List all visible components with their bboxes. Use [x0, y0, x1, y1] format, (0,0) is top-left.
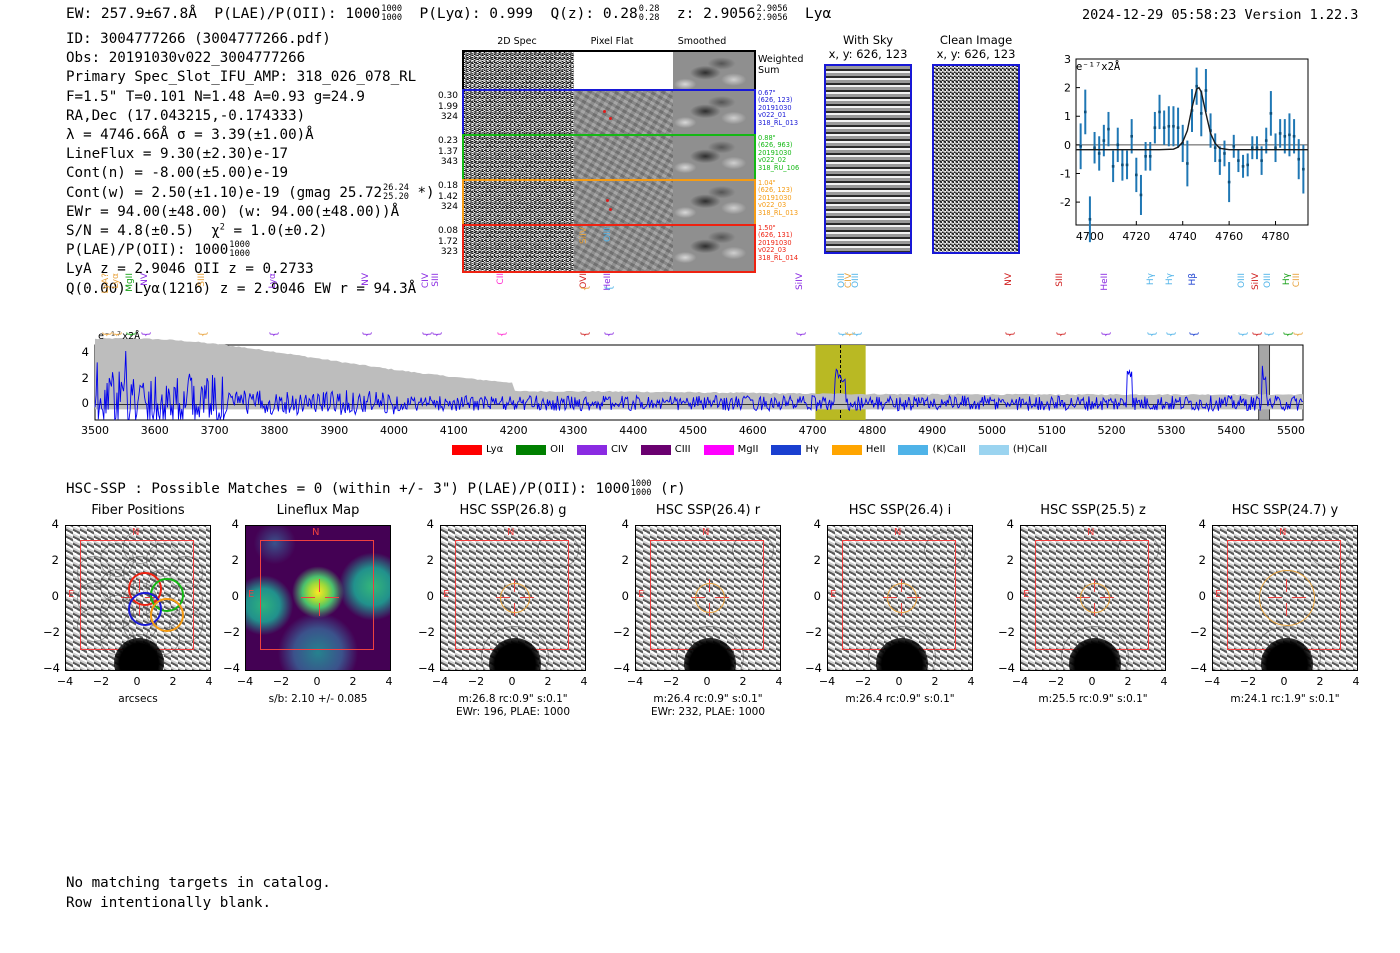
- svg-text:-1: -1: [1060, 167, 1071, 180]
- info-seeing-params: F=1.5" T=0.101 N=1.48 A=0.93 g=24.9: [66, 88, 435, 107]
- faint-source-ring: [537, 532, 579, 568]
- compass-east-label: E: [248, 589, 254, 600]
- legend-entry: Hγ: [771, 445, 818, 456]
- photometry-aperture: [1080, 583, 1110, 613]
- highlighted-fiber: [150, 598, 184, 632]
- legend-label: Lyα: [486, 444, 503, 455]
- cutout-ytick: 2: [998, 553, 1014, 567]
- emission-line-label: MgII: [126, 273, 135, 292]
- cutout-caption: m:25.5 rc:0.9" s:0.1": [1020, 693, 1166, 706]
- fiber-strip-1: [462, 89, 756, 138]
- spectrum-xtick: 5300: [1152, 424, 1190, 437]
- spectrum-xtick: 3900: [315, 424, 353, 437]
- cutout-ytick: 4: [805, 517, 821, 531]
- cutout-title: HSC SSP(26.4) r: [635, 503, 781, 518]
- info-plae: P(LAE)/P(OII): 100010001000: [66, 241, 435, 260]
- cutout-ytick: 4: [223, 517, 239, 531]
- emission-line-bracket: {: [112, 331, 123, 337]
- with-sky-coords: x, y: 626, 123: [824, 48, 912, 62]
- fiber2-left-values: 0.23 1.37 343: [420, 136, 458, 168]
- svg-text:0: 0: [1064, 139, 1071, 152]
- cutout-xtick: 2: [534, 675, 562, 688]
- spectrum-xtick: 5100: [1033, 424, 1071, 437]
- legend-label: (K)CaII: [932, 444, 965, 455]
- faint-source-ring: [732, 532, 774, 568]
- fiber-strip-3: [462, 179, 756, 228]
- header-plya: P(Lyα): 0.999: [419, 6, 533, 22]
- cutout-xtick: −2: [87, 675, 115, 688]
- svg-text:4780: 4780: [1262, 230, 1290, 243]
- photometry-aperture: [500, 583, 530, 613]
- fiber-strip-2: [462, 134, 756, 183]
- fiber2-smoothed: [673, 136, 754, 181]
- legend-swatch: [832, 445, 862, 455]
- spectrum-xtick: 5000: [973, 424, 1011, 437]
- svg-text:3: 3: [1064, 53, 1071, 66]
- emission-line-label: Hγ: [1147, 273, 1156, 285]
- emission-line-bracket: {: [141, 331, 152, 337]
- emission-line-label: LyA?: [102, 273, 111, 293]
- line-profile-plot: -2-1012347004720474047604780 e⁻¹⁷x2Å: [1040, 55, 1312, 255]
- cutout-xtick: 2: [159, 675, 187, 688]
- cutout-xtick: 2: [1114, 675, 1142, 688]
- header-plae-fraction: 10001000: [381, 5, 402, 23]
- cutout-caption: m:26.4 rc:0.9" s:0.1": [827, 693, 973, 706]
- cutout-ytick: −4: [1190, 661, 1206, 675]
- spectrum-xtick: 4900: [913, 424, 951, 437]
- cutout-xtick: −4: [813, 675, 841, 688]
- emission-line-label: Lyα: [112, 273, 121, 288]
- cutout-xtick: 2: [729, 675, 757, 688]
- lineflux-field-box: [260, 540, 374, 650]
- cutout-ytick: −2: [998, 625, 1014, 639]
- spectrum-xtick: 4400: [614, 424, 652, 437]
- emission-line-label: NV: [1005, 273, 1014, 286]
- cutout-title: Lineflux Map: [245, 503, 391, 518]
- emission-line-bracket: {: [580, 331, 591, 337]
- legend-label: CIV: [611, 444, 628, 455]
- legend-entry: Lyα: [452, 445, 503, 456]
- info-lineflux: LineFlux = 9.30(±2.30)e-17: [66, 145, 435, 164]
- fiber3-meta: 1.04" (626, 123) 20191030 v022_03 318_RL…: [758, 180, 798, 217]
- fiber1-smoothed: [673, 91, 754, 136]
- info-ewr: EWr = 94.00(±48.00) (w: 94.00(±48.00))Å: [66, 203, 435, 222]
- faint-source-ring: [1309, 532, 1351, 568]
- emission-line-label: SIII: [198, 273, 207, 287]
- info-cont-w: Cont(w) = 2.50(±1.10)e-19 (gmag 25.7226.…: [66, 184, 435, 203]
- hsc-plae-fraction: 10001000: [631, 480, 652, 498]
- with-sky-thumbnail: With Sky x, y: 626, 123: [824, 34, 912, 254]
- cutout-ytick: −2: [418, 625, 434, 639]
- cutout-caption-line: EWr: 196, PLAE: 1000: [440, 706, 586, 719]
- fiber1-2dspec: [464, 91, 574, 136]
- emission-line-bracket: {: [796, 331, 807, 337]
- emission-line-label: Hβ: [1189, 273, 1198, 286]
- cutout-ytick: 4: [43, 517, 59, 531]
- profile-flux-annotation: e⁻¹⁷x2Å: [1076, 61, 1120, 73]
- column-header-pixelflat: Pixel Flat: [562, 36, 662, 47]
- spectrum-xtick: 4500: [674, 424, 712, 437]
- cutout-caption-line: EWr: 232, PLAE: 1000: [635, 706, 781, 719]
- cutout-xtick: 0: [693, 675, 721, 688]
- header-z-fraction: 2.90562.9056: [757, 5, 788, 23]
- cutout-title: HSC SSP(24.7) y: [1212, 503, 1358, 518]
- emission-line-label: Hγ: [1166, 273, 1175, 285]
- cutout-ytick: 0: [613, 589, 629, 603]
- legend-label: (H)CaII: [1013, 444, 1047, 455]
- spectrum-xtick: 4300: [554, 424, 592, 437]
- spectrum-xtick: 4700: [794, 424, 832, 437]
- faint-source-ring: [924, 532, 966, 568]
- summary-header-line: EW: 257.9±67.8Å P(LAE)/P(OII): 100010001…: [66, 5, 831, 23]
- cutout-xtick: −4: [51, 675, 79, 688]
- gmag-fraction: 26.2425.20: [383, 184, 409, 202]
- emission-line-label: CII: [497, 273, 506, 285]
- fiber1-pixelflat: [574, 91, 673, 136]
- emission-line-bracket: {: [1189, 331, 1200, 337]
- cutout-ytick: −4: [223, 661, 239, 675]
- emission-line-bracket: {: [1252, 331, 1263, 337]
- cutout-title: HSC SSP(25.5) z: [1020, 503, 1166, 518]
- cutout-image[interactable]: NE: [65, 525, 211, 671]
- legend-entry: CIV: [577, 445, 628, 456]
- cutout-xtick: 0: [1078, 675, 1106, 688]
- spectrum-ytick: 2: [71, 371, 89, 385]
- compass-north-label: N: [1087, 527, 1094, 538]
- info-qline: Q(0.00) Lyα(1216) z = 2.9046 EW r = 94.3…: [66, 280, 435, 299]
- emission-line-bracket: {: [1147, 331, 1158, 337]
- weighted-sum-label: Weighted Sum: [758, 54, 803, 76]
- emission-line-bracket: {: [1293, 331, 1304, 337]
- spectrum-xtick: 5400: [1212, 424, 1250, 437]
- cutout-ytick: 0: [418, 589, 434, 603]
- header-ew: EW: 257.9±67.8Å: [66, 6, 197, 22]
- fiber2-pixelflat: [574, 136, 673, 181]
- header-qz-fraction: 0.280.28: [639, 5, 660, 23]
- cutout-xtick: −2: [267, 675, 295, 688]
- legend-swatch: [979, 445, 1009, 455]
- faint-source-ring: [1117, 532, 1159, 568]
- emission-line-bracket: {: [126, 331, 137, 337]
- cutout-xtick: 4: [1150, 675, 1178, 688]
- column-header-2dspec: 2D Spec: [462, 36, 572, 47]
- cutout-xtick: −4: [231, 675, 259, 688]
- cutout-caption: arcsecs: [65, 693, 211, 706]
- fiber4-meta: 1.50" (626, 131) 20191030 v022_03 318_RL…: [758, 225, 798, 262]
- clean-image-coords: x, y: 626, 123: [932, 48, 1020, 62]
- cutout-xtick: 2: [339, 675, 367, 688]
- cutout-xtick: −2: [1234, 675, 1262, 688]
- emission-line-bracket: {: [604, 331, 615, 337]
- cutout-ytick: 0: [223, 589, 239, 603]
- cutout-xtick: −4: [1198, 675, 1226, 688]
- emission-line-label: NV: [141, 273, 150, 286]
- fiber2-2dspec: [464, 136, 574, 181]
- with-sky-title: With Sky: [824, 34, 912, 48]
- cutout-ytick: −4: [998, 661, 1014, 675]
- cutout-ytick: 0: [805, 589, 821, 603]
- fiber3-2dspec: [464, 181, 574, 226]
- cutout-xtick: 2: [921, 675, 949, 688]
- emission-line-bracket: {: [1005, 331, 1016, 337]
- cutout-ytick: 0: [998, 589, 1014, 603]
- cutout-caption-line: m:26.4 rc:0.9" s:0.1": [635, 693, 781, 706]
- emission-line-label: OIII: [1264, 273, 1273, 288]
- cutout-xtick: −2: [849, 675, 877, 688]
- emission-line-label: SiIV: [1252, 273, 1261, 290]
- emission-line-bracket: {: [604, 285, 615, 291]
- fiber4-left-values: 0.08 1.72 323: [420, 226, 458, 258]
- legend-entry: OII: [516, 445, 564, 456]
- legend-entry: (H)CaII: [979, 445, 1047, 456]
- legend-swatch: [704, 445, 734, 455]
- with-sky-image: [824, 64, 912, 254]
- emission-line-bracket: {: [432, 331, 443, 337]
- cutout-ytick: −2: [1190, 625, 1206, 639]
- fiber2-meta: 0.88" (626, 963) 20191030 v022_02 318_RU…: [758, 135, 799, 172]
- cutout-ytick: 4: [418, 517, 434, 531]
- fiber3-left-values: 0.18 1.42 324: [420, 181, 458, 213]
- cutout-ytick: 4: [1190, 517, 1206, 531]
- photometry-aperture: [695, 583, 725, 613]
- cutout-ytick: 2: [418, 553, 434, 567]
- fiber-aperture: [77, 556, 111, 590]
- compass-north-label: N: [507, 527, 514, 538]
- header-lya: Lyα: [805, 6, 831, 22]
- cutout-xtick: 2: [1306, 675, 1334, 688]
- compass-north-label: N: [312, 527, 319, 538]
- cutout-xtick: 4: [570, 675, 598, 688]
- info-obs: Obs: 20191030v022_3004777266: [66, 49, 435, 68]
- cutout-ytick: 2: [1190, 553, 1206, 567]
- spectrum-xtick: 3600: [136, 424, 174, 437]
- cutout-xtick: 0: [498, 675, 526, 688]
- emission-line-bracket: {: [269, 331, 280, 337]
- emission-line-bracket: {: [198, 331, 209, 337]
- spectrum-ytick: 0: [71, 396, 89, 410]
- compass-east-label: E: [1023, 589, 1029, 600]
- svg-text:-2: -2: [1060, 196, 1071, 209]
- legend-swatch: [577, 445, 607, 455]
- compass-east-label: E: [68, 589, 74, 600]
- cutout-xtick: 0: [885, 675, 913, 688]
- timestamp-version: 2024-12-29 05:58:23 Version 1.22.3: [1082, 7, 1358, 23]
- cutout-caption: m:24.1 rc:1.9" s:0.1": [1212, 693, 1358, 706]
- legend-swatch: [516, 445, 546, 455]
- object-info-block: ID: 3004777266 (3004777266.pdf) Obs: 201…: [66, 30, 435, 299]
- svg-text:4740: 4740: [1169, 230, 1197, 243]
- cutout-ytick: 2: [613, 553, 629, 567]
- cutout-xtick: −2: [462, 675, 490, 688]
- cutout-caption-line: m:25.5 rc:0.9" s:0.1": [1020, 693, 1166, 706]
- legend-entry: HeII: [832, 445, 886, 456]
- legend-entry: MgII: [704, 445, 759, 456]
- emission-line-bracket: {: [1238, 331, 1249, 337]
- spectrum-ytick: 4: [71, 345, 89, 359]
- emission-line-label: HeII: [1101, 273, 1110, 291]
- cutout-caption: m:26.4 rc:0.9" s:0.1"EWr: 232, PLAE: 100…: [635, 693, 781, 719]
- cutout-caption: m:26.8 rc:0.9" s:0.1"EWr: 196, PLAE: 100…: [440, 693, 586, 719]
- emission-line-label: SiIV: [796, 273, 805, 290]
- svg-text:4760: 4760: [1215, 230, 1243, 243]
- cutout-xtick: 0: [123, 675, 151, 688]
- cutout-xtick: 4: [195, 675, 223, 688]
- info-redshifts: LyA z = 2.9046 OII z = 0.2733: [66, 260, 435, 279]
- emission-line-label: CIII: [1293, 273, 1302, 287]
- emission-line-label: SiIV: [580, 227, 589, 244]
- compass-east-label: E: [638, 589, 644, 600]
- compass-east-label: E: [830, 589, 836, 600]
- cutout-ytick: −2: [805, 625, 821, 639]
- emission-line-label: OIII: [604, 227, 613, 242]
- clean-image-title: Clean Image: [932, 34, 1020, 48]
- info-primary-spec: Primary Spec_Slot_IFU_AMP: 318_026_078_R…: [66, 68, 435, 87]
- fiber1-left-values: 0.30 1.99 324: [420, 91, 458, 123]
- info-wavelength-sigma: λ = 4746.66Å σ = 3.39(±1.00)Å: [66, 126, 435, 145]
- spectrum-xtick: 5200: [1093, 424, 1131, 437]
- legend-label: CIII: [675, 444, 691, 455]
- cutout-title: HSC SSP(26.8) g: [440, 503, 586, 518]
- cutout-caption-line: m:26.8 rc:0.9" s:0.1": [440, 693, 586, 706]
- fiber-aperture: [123, 530, 157, 564]
- cutout-image[interactable]: NE: [1212, 525, 1358, 671]
- emission-line-bracket: {: [580, 285, 591, 291]
- cutout-xtick: 0: [303, 675, 331, 688]
- spectrum-xtick: 4100: [435, 424, 473, 437]
- spectrum-xtick: 5500: [1272, 424, 1310, 437]
- fiber4-smoothed: [673, 226, 754, 271]
- cutout-image[interactable]: NE: [245, 525, 391, 671]
- compass-east-label: E: [443, 589, 449, 600]
- cutout-title: Fiber Positions: [65, 503, 211, 518]
- header-z: z: 2.9056: [677, 6, 756, 22]
- cutout-caption: s/b: 2.10 +/- 0.085: [245, 693, 391, 706]
- cutout-image[interactable]: NE: [440, 525, 586, 671]
- compass-north-label: N: [894, 527, 901, 538]
- emission-line-label: OIII: [852, 273, 861, 288]
- emission-line-label: OIII: [1238, 273, 1247, 288]
- legend-swatch: [898, 445, 928, 455]
- legend-swatch: [641, 445, 671, 455]
- footer-line-2: Row intentionally blank.: [66, 894, 331, 914]
- emission-line-bracket: {: [1264, 331, 1275, 337]
- spectrum-xtick: 4000: [375, 424, 413, 437]
- cutout-xtick: −4: [621, 675, 649, 688]
- emission-line-label: Lyα: [269, 273, 278, 288]
- emission-line-bracket: {: [852, 331, 863, 337]
- legend-label: Hγ: [805, 444, 818, 455]
- cutout-image[interactable]: NE: [1020, 525, 1166, 671]
- cutout-image[interactable]: NE: [635, 525, 781, 671]
- photometry-aperture: [887, 583, 917, 613]
- fiber4-2dspec: [464, 226, 574, 271]
- cutout-xtick: −2: [657, 675, 685, 688]
- legend-swatch: [452, 445, 482, 455]
- spectrum-legend: LyαOIICIVCIIIMgIIHγHeII(K)CaII(H)CaII: [452, 444, 1060, 456]
- cutout-caption-line: m:26.4 rc:0.9" s:0.1": [827, 693, 973, 706]
- emission-line-label: SIII: [432, 273, 441, 287]
- cutout-xtick: 4: [765, 675, 793, 688]
- emission-line-bracket: {: [497, 331, 508, 337]
- emission-line-bracket: {: [1056, 331, 1067, 337]
- column-header-smoothed: Smoothed: [654, 36, 750, 47]
- cutout-ytick: 4: [998, 517, 1014, 531]
- cutout-caption-line: s/b: 2.10 +/- 0.085: [245, 693, 391, 706]
- info-sn-chi2: S/N = 4.8(±0.5) χ2 = 1.0(±0.2): [66, 222, 435, 241]
- legend-label: MgII: [738, 444, 759, 455]
- fiber3-smoothed: [673, 181, 754, 226]
- header-plae-label: P(LAE)/P(OII): 1000: [214, 6, 380, 22]
- svg-text:4720: 4720: [1122, 230, 1150, 243]
- cutout-xtick: 4: [375, 675, 403, 688]
- hsc-ssp-match-line: HSC-SSP : Possible Matches = 0 (within +…: [66, 480, 686, 498]
- cutout-image[interactable]: NE: [827, 525, 973, 671]
- cutout-ytick: −4: [805, 661, 821, 675]
- compass-north-label: N: [702, 527, 709, 538]
- emission-line-label: NV: [362, 273, 371, 286]
- cutout-title: HSC SSP(26.4) i: [827, 503, 973, 518]
- emission-line-label: CIV: [422, 273, 431, 288]
- info-id: ID: 3004777266 (3004777266.pdf): [66, 30, 435, 49]
- clean-image-pixels: [932, 64, 1020, 254]
- cutout-ytick: 4: [613, 517, 629, 531]
- emission-line-label: Hγ: [1283, 273, 1292, 285]
- cutout-ytick: −4: [613, 661, 629, 675]
- info-cont-n: Cont(n) = -8.00(±5.00)e-19: [66, 164, 435, 183]
- fiber1-meta: 0.67" (626, 123) 20191030 v022_01 318_RL…: [758, 90, 798, 127]
- spectrum-xtick: 4800: [853, 424, 891, 437]
- cutout-ytick: 2: [223, 553, 239, 567]
- info-plae-fraction: 10001000: [229, 241, 250, 259]
- svg-text:1: 1: [1064, 110, 1071, 123]
- emission-line-label: SIII: [1056, 273, 1065, 287]
- emission-line-bracket: {: [1101, 331, 1112, 337]
- header-qz: Q(z): 0.28: [550, 6, 637, 22]
- cutout-xtick: −4: [1006, 675, 1034, 688]
- cutout-ytick: 0: [43, 589, 59, 603]
- cutout-ytick: −4: [43, 661, 59, 675]
- legend-entry: CIII: [641, 445, 691, 456]
- cutout-xtick: 4: [1342, 675, 1370, 688]
- footer-note: No matching targets in catalog. Row inte…: [66, 874, 331, 913]
- svg-text:2: 2: [1064, 82, 1071, 95]
- legend-label: HeII: [866, 444, 886, 455]
- cutout-xtick: 0: [1270, 675, 1298, 688]
- cutout-xtick: 4: [957, 675, 985, 688]
- spectrum-xtick: 3700: [196, 424, 234, 437]
- cutout-ytick: 2: [43, 553, 59, 567]
- compass-east-label: E: [1215, 589, 1221, 600]
- cutout-xtick: −2: [1042, 675, 1070, 688]
- cutout-caption-line: arcsecs: [65, 693, 211, 706]
- spectrum-xtick: 3800: [255, 424, 293, 437]
- spectrum-xtick: 3500: [76, 424, 114, 437]
- legend-entry: (K)CaII: [898, 445, 965, 456]
- cutout-ytick: −4: [418, 661, 434, 675]
- legend-label: OII: [550, 444, 564, 455]
- emission-line-bracket: {: [362, 331, 373, 337]
- emission-line-bracket: {: [1166, 331, 1177, 337]
- info-radec: RA,Dec (17.043215,-0.174333): [66, 107, 435, 126]
- cutout-ytick: 2: [805, 553, 821, 567]
- footer-line-1: No matching targets in catalog.: [66, 874, 331, 894]
- cutout-ytick: −2: [43, 625, 59, 639]
- clean-image-thumbnail: Clean Image x, y: 626, 123: [932, 34, 1020, 254]
- legend-swatch: [771, 445, 801, 455]
- spectrum-xtick: 4200: [495, 424, 533, 437]
- compass-north-label: N: [1279, 527, 1286, 538]
- cutout-ytick: −2: [613, 625, 629, 639]
